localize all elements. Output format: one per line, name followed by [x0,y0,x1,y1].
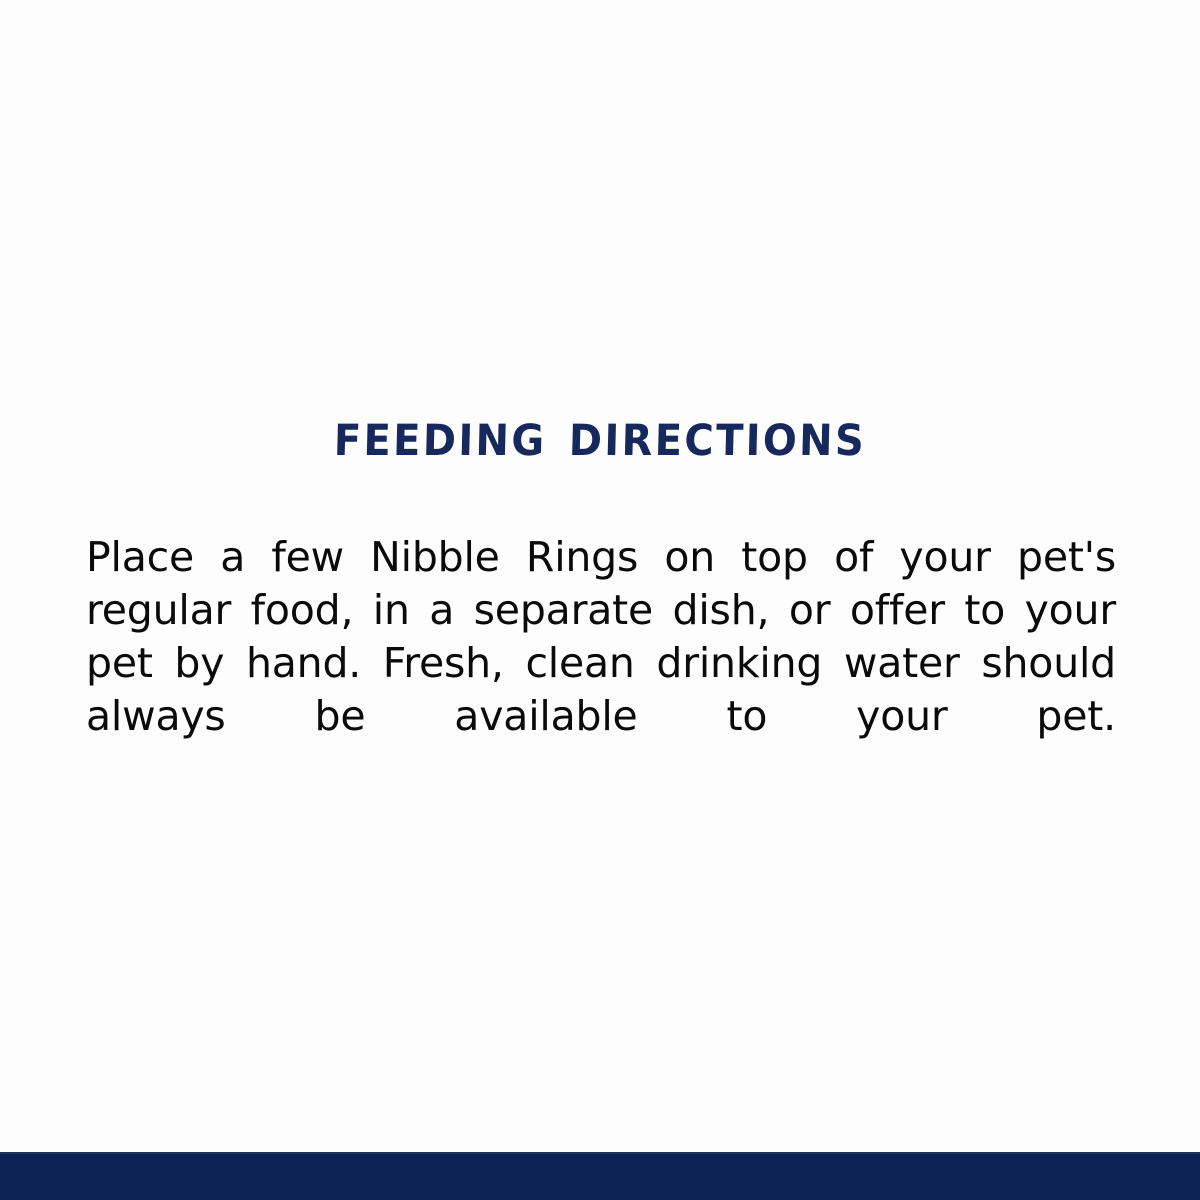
feeding-directions-panel: FEEDING DIRECTIONS Place a few Nibble Ri… [0,0,1200,1200]
page-title-container: FEEDING DIRECTIONS [0,392,1200,476]
footer-bar [0,1152,1200,1200]
footer-bar-top-edge [0,1152,1200,1154]
page-title: FEEDING DIRECTIONS [333,392,867,476]
body-text-container: Place a few Nibble Rings on top of your … [86,531,1116,796]
feeding-instructions-paragraph: Place a few Nibble Rings on top of your … [86,531,1116,796]
